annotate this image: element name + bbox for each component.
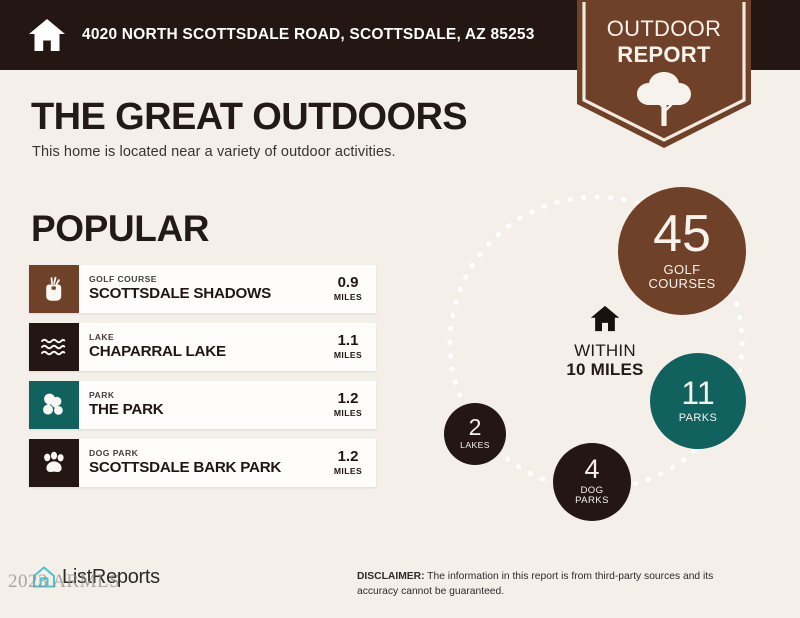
stat-label: GOLF COURSES [648,263,715,292]
stat-bubble-lakes[interactable]: 2 LAKES [444,403,506,465]
distance-value: 0.9 [338,275,359,292]
list-item-category: DOG PARK [89,449,324,459]
listreports-wordmark: ListReports [62,566,160,589]
listreports-house-icon [31,564,57,590]
distance-unit: MILES [334,350,362,361]
distance-value: 1.2 [338,391,359,408]
header-content: 4020 NORTH SCOTTSDALE ROAD, SCOTTSDALE, … [28,0,535,70]
house-icon [590,319,620,336]
popular-list: GOLF COURSE SCOTTSDALE SHADOWS 0.9 MILES [29,265,376,497]
trees-icon [29,381,79,429]
list-item-category: GOLF COURSE [89,275,324,285]
stat-label: DOG PARKS [575,486,609,507]
list-item-distance: 1.1 MILES [324,323,376,371]
stat-label-line-2: PARKS [575,495,609,506]
page-subtitle: This home is located near a variety of o… [32,144,396,160]
list-item-distance: 0.9 MILES [324,265,376,313]
disclaimer-label: DISCLAIMER: [357,571,425,582]
list-item-distance: 1.2 MILES [324,439,376,487]
house-icon [28,18,66,52]
diagram-center-line-2: 10 MILES [535,360,675,379]
property-address: 4020 NORTH SCOTTSDALE ROAD, SCOTTSDALE, … [82,26,535,44]
list-item-text: LAKE CHAPARRAL LAKE [79,323,324,371]
stat-bubble-golf-courses[interactable]: 45 GOLF COURSES [618,187,746,315]
list-item[interactable]: PARK THE PARK 1.2 MILES [29,381,376,429]
list-item-category: PARK [89,391,324,401]
diagram-center: WITHIN 10 MILES [535,305,675,379]
distance-unit: MILES [334,408,362,419]
within-10-miles-diagram: 45 GOLF COURSES 11 PARKS 2 LAKES 4 DOG P… [410,175,800,540]
stat-label-line-1: GOLF [664,262,701,277]
popular-heading: POPULAR [31,208,209,250]
golf-bag-icon [29,265,79,313]
listreports-logo[interactable]: ListReports [31,564,160,590]
list-item-name: CHAPARRAL LAKE [89,343,324,360]
stat-bubble-dog-parks[interactable]: 4 DOG PARKS [553,443,631,521]
stat-label-line-1: DOG [580,485,603,496]
list-item-name: SCOTTSDALE SHADOWS [89,285,324,302]
list-item-text: DOG PARK SCOTTSDALE BARK PARK [79,439,324,487]
outdoor-report-badge: OUTDOOR REPORT [577,0,751,148]
outdoor-report-page: 4020 NORTH SCOTTSDALE ROAD, SCOTTSDALE, … [0,0,800,618]
list-item-distance: 1.2 MILES [324,381,376,429]
stat-count: 11 [681,378,714,408]
stat-count: 4 [584,457,599,483]
list-item[interactable]: GOLF COURSE SCOTTSDALE SHADOWS 0.9 MILES [29,265,376,313]
stat-count: 45 [653,210,711,259]
list-item[interactable]: LAKE CHAPARRAL LAKE 1.1 MILES [29,323,376,371]
list-item-category: LAKE [89,333,324,343]
stat-label: LAKES [460,441,490,451]
list-item-text: PARK THE PARK [79,381,324,429]
distance-unit: MILES [334,466,362,477]
paw-icon [29,439,79,487]
distance-value: 1.2 [338,449,359,466]
list-item[interactable]: DOG PARK SCOTTSDALE BARK PARK 1.2 MILES [29,439,376,487]
diagram-center-line-1: WITHIN [535,341,675,360]
page-title: THE GREAT OUTDOORS [31,96,467,139]
waves-icon [29,323,79,371]
disclaimer: DISCLAIMER: The information in this repo… [357,570,717,600]
list-item-name: THE PARK [89,401,324,418]
list-item-name: SCOTTSDALE BARK PARK [89,459,324,476]
distance-value: 1.1 [338,333,359,350]
stat-label: PARKS [679,412,717,424]
list-item-text: GOLF COURSE SCOTTSDALE SHADOWS [79,265,324,313]
stat-label-line-2: COURSES [648,276,715,291]
distance-unit: MILES [334,292,362,303]
stat-count: 2 [469,417,482,439]
